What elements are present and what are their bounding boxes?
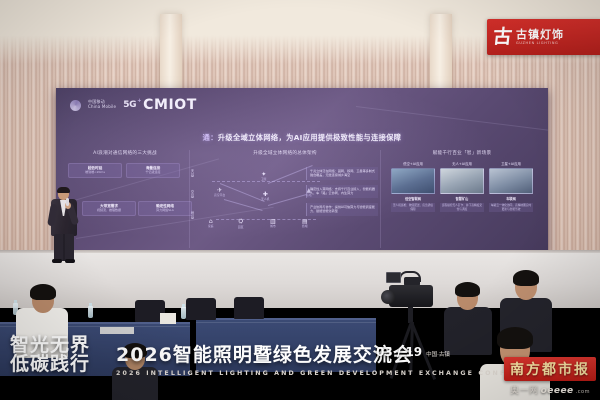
card-desc: 车路云一体化协同，高精地图实时更新与智能驾驶 [489,203,533,212]
slide-columns: AI浪潮对通信网络的三大挑战 超低时延 端到端<20ms 海量连接 千亿级连接 … [66,150,538,248]
layer-label: 天基 [190,169,195,178]
card-name: 低空智联网 [391,196,435,201]
event-title: 2026智能照明暨绿色发展交流会 [116,340,547,367]
sponsor-name-en: GUZHEN LIGHTING [516,42,564,46]
challenge-sub: 算力网络SLA [140,209,190,213]
name-card [160,313,176,324]
card-name: 车联网 [489,196,533,201]
factory-icon: ⛭园区 [238,218,244,229]
house-icon: ⌂家庭 [208,218,214,228]
scenario-cards: 低空+AI应用 低空智联网 无人机巡检、物流配送、应急通信保障 无人+AI应用 … [386,161,538,212]
slide-left-panel: AI浪潮对通信网络的三大挑战 超低时延 端到端<20ms 海量连接 千亿级连接 … [66,150,184,248]
node-label: 无人机 [261,197,269,201]
card-thumbnail [440,168,484,194]
left-panel-title: AI浪潮对通信网络的三大挑战 [66,150,184,156]
event-venue: 中国·古镇 [426,350,450,358]
node-label: 高空平台 [214,193,225,197]
event-title-block: 2026智能照明暨绿色发展交流会 2026 INTELLIGENT LIGHTI… [116,340,547,377]
speaker-presenter [47,188,81,264]
chair [186,298,216,320]
card-tag: 无人+AI应用 [440,161,484,166]
network-badge: 5G+ [123,100,136,110]
scenario-card: 无人+AI应用 智慧矿山 远程操控无人矿卡、井下高精度定位与调度 [440,161,484,212]
card-desc: 无人机巡检、物流配送、应急通信保障 [391,203,435,212]
challenge-sub: 端到端<20ms [70,171,120,175]
layer-label: 空基 [190,190,195,199]
node-label: 家庭 [208,224,214,228]
challenge-box: 超低时延 端到端<20ms [68,163,122,178]
challenge-box: 海量连接 千亿级连接 [126,163,180,178]
node-label: 卫星 [261,177,267,181]
camera-monitor [386,272,401,283]
challenge-sub: 视频流、推理数据 [84,209,134,213]
card-tag: 卫星+AI应用 [489,161,533,166]
event-date: 03 / 19 [376,345,422,359]
right-panel-title: 赋能千行百业「智」新场景 [386,150,538,156]
slide-brand-row: 中国移动 China Mobile 5G+ CMIOT [70,97,197,113]
site-name-en: oeeee [541,386,574,396]
sponsor-logo: 古 古镇灯饰 GUZHEN LIGHTING [487,19,600,55]
site-domain: .com [576,389,590,395]
card-desc: 远程操控无人矿卡、井下高精度定位与调度 [440,203,484,212]
china-mobile-logo-icon [70,100,81,111]
city-icon: ▥城市 [270,218,276,228]
publisher-watermark: 南方都市报 奥一网 oeeee .com [504,357,596,396]
network-diagram: 天基 空基 地基 ✦卫星 ✈高空平台 ✚无人机 ▲基站 ⌂家庭 ⛭园区 [190,161,380,243]
layer-label: 地基 [190,211,195,220]
card-tag: 低空+AI应用 [391,161,435,166]
scenario-card: 卫星+AI应用 车联网 车路云一体化协同，高精地图实时更新与智能驾驶 [489,161,533,212]
chair [234,297,264,319]
presentation-screen: 中国移动 China Mobile 5G+ CMIOT 通：升级全域立体网络，为… [56,88,548,254]
aircraft-icon: ✈高空平台 [214,187,225,197]
slogan-line-2: 低碳践行 [10,355,90,374]
camera-lens-icon [381,290,395,304]
node-label: 终端 [302,224,308,228]
bullet-item: 产业协同与协作：提供AI可信算力与智能调度能力，赋能智能化转型 [306,203,378,216]
middle-panel-title: 升级全域立体网络的总体架构 [190,150,380,156]
card-name: 智慧矿山 [440,196,484,201]
publisher-name: 南方都市报 [504,357,596,381]
node-label: 园区 [238,225,244,229]
card-thumbnail [391,168,435,194]
video-camera [389,285,433,307]
challenge-box: 确定性网络 算力网络SLA [138,201,192,216]
document [100,327,134,334]
bullet-item: 确定性入算网络：支持千行百业接入，智能机器人、车「路」云协同、内生算力 [306,185,378,198]
middle-bullet-list: 千兆立体泛在网络：固网、移网、卫星等多制式融合覆盖，无缝连接城乡海空 确定性入算… [306,167,378,221]
satellite-icon: ✦卫星 [261,171,267,181]
network-sup: + [137,98,141,104]
product-wordmark: CMIOT [143,97,197,113]
network-label: 5G [123,100,136,110]
slide-headline: 通：升级全域立体网络，为AI应用提供极致性能与连接保障 [56,133,548,143]
challenge-sub: 千亿级连接 [128,171,178,175]
headline-text: 升级全域立体网络，为AI应用提供极致性能与连接保障 [218,133,402,142]
sponsor-mark-icon: 古 [492,28,513,47]
water-bottle [181,307,186,319]
conference-photo: 古 古镇灯饰 GUZHEN LIGHTING 中国移动 China Mobile… [0,0,600,400]
site-name-cn: 奥一网 [510,383,539,396]
headline-lead: 通： [203,133,218,142]
slide-right-panel: 赋能千行百业「智」新场景 低空+AI应用 低空智联网 无人机巡检、物流配送、应急… [386,150,538,248]
event-date-block: 03 / 19 中国·古镇 [376,345,450,359]
bullet-item: 千兆立体泛在网络：固网、移网、卫星等多制式融合覆盖，无缝连接城乡海空 [306,167,378,180]
node-label: 城市 [270,224,276,228]
microphone-icon [66,198,69,206]
water-bottle [88,306,93,318]
card-thumbnail [489,168,533,194]
drone-icon: ✚无人机 [261,191,269,201]
slide-middle-panel: 升级全域立体网络的总体架构 天基 空基 地基 ✦卫星 ✈高空平台 ✚无 [189,150,381,248]
scenario-card: 低空+AI应用 低空智联网 无人机巡检、物流配送、应急通信保障 [391,161,435,212]
sponsor-name-cn: 古镇灯饰 [516,29,564,41]
challenge-box: 大带宽需求 视频流、推理数据 [82,201,136,216]
event-title-en: 2026 INTELLIGENT LIGHTING AND GREEN DEVE… [116,370,547,377]
layer-labels: 天基 空基 地基 [190,169,195,219]
carrier-name-en: China Mobile [88,105,116,110]
event-slogan: 智光无界 低碳践行 [10,336,90,375]
